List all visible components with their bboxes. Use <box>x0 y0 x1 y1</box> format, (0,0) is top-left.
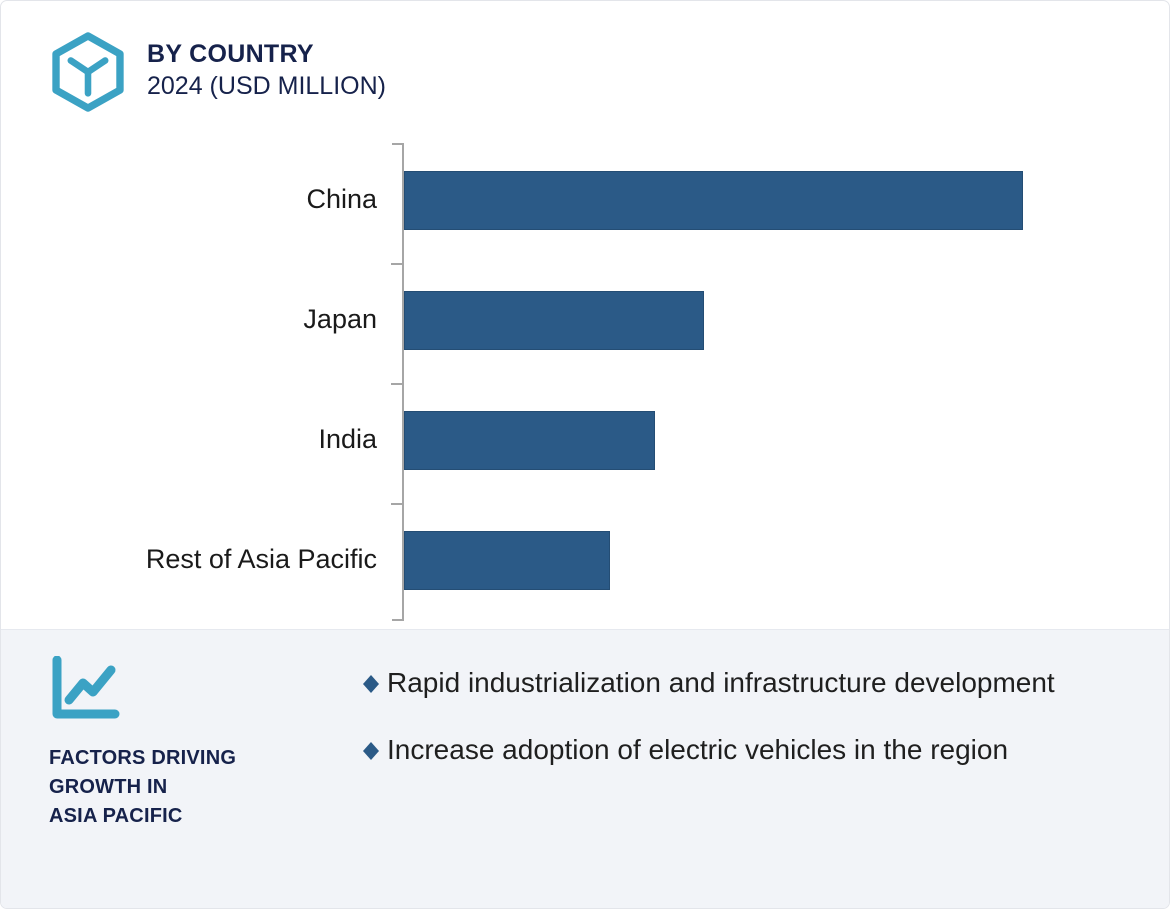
diamond-bullet-icon <box>361 674 381 694</box>
factors-panel: FACTORS DRIVING GROWTH IN ASIA PACIFIC R… <box>1 629 1170 909</box>
line-chart-growth-icon <box>49 656 121 722</box>
factors-title: FACTORS DRIVING GROWTH IN ASIA PACIFIC <box>49 744 349 831</box>
bar-rest-of-asia-pacific <box>404 531 610 590</box>
bar-china <box>404 171 1023 230</box>
bar-japan <box>404 291 704 350</box>
page-title: BY COUNTRY <box>147 38 386 70</box>
bar-chart: China Japan India Rest of Asia Pacific <box>1 139 1170 629</box>
factors-panel-heading: FACTORS DRIVING GROWTH IN ASIA PACIFIC <box>49 656 349 831</box>
hexagon-y-icon <box>47 31 129 113</box>
chart-plot-area: China Japan India Rest of Asia Pacific <box>1 139 1170 629</box>
bar-india <box>404 411 655 470</box>
axis-bottom-cap <box>392 619 403 621</box>
chart-row-japan: Japan <box>1 259 1170 379</box>
chart-row-rest-of-asia-pacific: Rest of Asia Pacific <box>1 499 1170 619</box>
factors-title-line-3: ASIA PACIFIC <box>49 802 349 831</box>
factors-title-line-2: GROWTH IN <box>49 773 349 802</box>
category-label: Rest of Asia Pacific <box>146 537 377 581</box>
list-item: Increase adoption of electric vehicles i… <box>361 729 1101 772</box>
card-header: BY COUNTRY 2024 (USD MILLION) <box>47 31 386 113</box>
list-item: Rapid industrialization and infrastructu… <box>361 662 1101 705</box>
header-text-block: BY COUNTRY 2024 (USD MILLION) <box>147 31 386 102</box>
chart-row-india: India <box>1 379 1170 499</box>
factors-title-line-1: FACTORS DRIVING <box>49 744 349 773</box>
category-label: India <box>318 417 377 461</box>
page-subtitle: 2024 (USD MILLION) <box>147 70 386 102</box>
chart-row-china: China <box>1 139 1170 259</box>
factors-bullet-list: Rapid industrialization and infrastructu… <box>361 662 1101 795</box>
bullet-text: Rapid industrialization and infrastructu… <box>387 662 1055 705</box>
category-label: China <box>306 177 377 221</box>
diamond-bullet-icon <box>361 741 381 761</box>
category-label: Japan <box>303 297 377 341</box>
infographic-card: BY COUNTRY 2024 (USD MILLION) China Japa… <box>0 0 1170 909</box>
bullet-text: Increase adoption of electric vehicles i… <box>387 729 1008 772</box>
